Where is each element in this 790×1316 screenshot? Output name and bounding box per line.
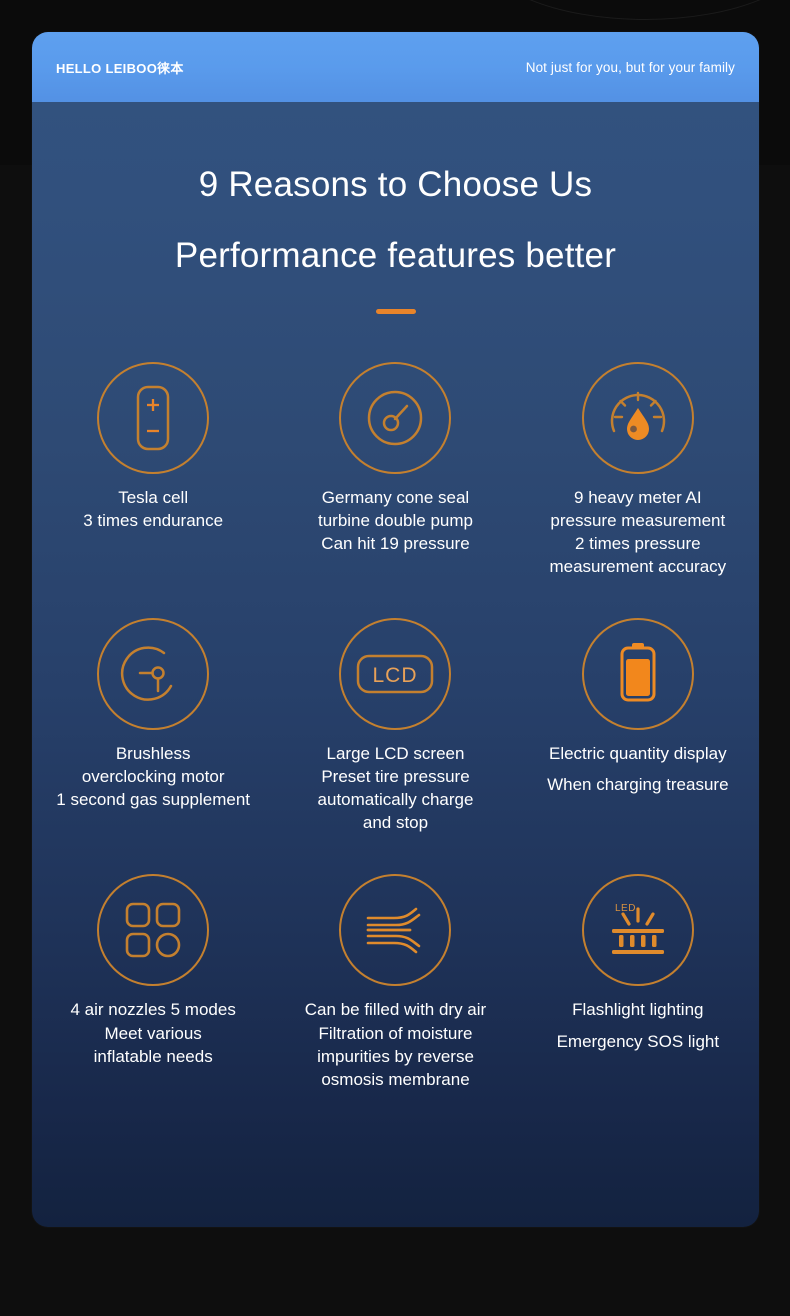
caption-line: 4 air nozzles 5 modes <box>70 998 235 1021</box>
page-subtitle: Performance features better <box>32 235 759 276</box>
caption-line: Large LCD screen <box>318 742 474 765</box>
feature-caption: Large LCD screen Preset tire pressure au… <box>318 742 474 834</box>
caption-line: 3 times endurance <box>83 509 223 532</box>
caption-line: 1 second gas supplement <box>56 788 250 811</box>
icon-circle <box>582 362 694 474</box>
feature-caption: Germany cone seal turbine double pump Ca… <box>318 486 473 555</box>
feature-caption: Can be filled with dry air Filtration of… <box>305 998 486 1090</box>
caption-line: Preset tire pressure <box>318 765 474 788</box>
caption-line: pressure measurement <box>549 509 726 532</box>
pressure-gauge-icon <box>360 383 430 453</box>
icon-circle <box>97 618 209 730</box>
page-root: HELLO LEIBOO徕本 Not just for you, but for… <box>0 0 790 1316</box>
caption-line: Electric quantity display <box>547 742 728 765</box>
caption-line: osmosis membrane <box>305 1068 486 1091</box>
caption-line: Can hit 19 pressure <box>318 532 473 555</box>
caption-line: overclocking motor <box>56 765 250 788</box>
feature-caption: Tesla cell 3 times endurance <box>83 486 223 532</box>
caption-line: Flashlight lighting <box>557 998 720 1021</box>
features-grid: Tesla cell 3 times endurance Germany con… <box>32 362 759 1091</box>
brand-label: HELLO LEIBOO徕本 <box>56 58 184 77</box>
caption-line: Germany cone seal <box>318 486 473 509</box>
feature-item: LED Flashlight lighting <box>517 874 759 1090</box>
brushless-motor-icon <box>118 639 188 709</box>
feature-item: LCD Large LCD screen Preset tire pressur… <box>274 618 516 834</box>
lcd-label: LCD <box>373 664 418 687</box>
caption-line: measurement accuracy <box>549 555 726 578</box>
icon-circle <box>97 362 209 474</box>
caption-line: turbine double pump <box>318 509 473 532</box>
feature-item: Can be filled with dry air Filtration of… <box>274 874 516 1090</box>
caption-line: and stop <box>318 811 474 834</box>
caption-line: 2 times pressure <box>549 532 726 555</box>
battery-cell-icon <box>122 381 184 455</box>
feature-item: Tesla cell 3 times endurance <box>32 362 274 578</box>
title-underline-divider <box>376 309 416 314</box>
title-block: 9 Reasons to Choose Us Performance featu… <box>32 164 759 314</box>
led-label: LED <box>615 903 636 914</box>
icon-circle <box>339 874 451 986</box>
caption-line: Filtration of moisture <box>305 1022 486 1045</box>
icon-circle: LCD <box>339 618 451 730</box>
caption-line: automatically charge <box>318 788 474 811</box>
feature-caption: Brushless overclocking motor 1 second ga… <box>56 742 250 811</box>
feature-caption: 9 heavy meter AI pressure measurement 2 … <box>549 486 726 578</box>
caption-spacer <box>547 765 728 773</box>
feature-item: 9 heavy meter AI pressure measurement 2 … <box>517 362 759 578</box>
feature-caption: 4 air nozzles 5 modes Meet various infla… <box>70 998 235 1067</box>
feature-caption: Flashlight lighting Emergency SOS light <box>557 998 720 1052</box>
caption-line: inflatable needs <box>70 1045 235 1068</box>
ai-pressure-meter-icon <box>601 381 675 455</box>
icon-circle <box>582 618 694 730</box>
feature-card: HELLO LEIBOO徕本 Not just for you, but for… <box>32 32 759 1227</box>
feature-item: Germany cone seal turbine double pump Ca… <box>274 362 516 578</box>
feature-item: 4 air nozzles 5 modes Meet various infla… <box>32 874 274 1090</box>
lcd-screen-icon: LCD <box>355 652 435 696</box>
caption-line: Emergency SOS light <box>557 1030 720 1053</box>
caption-line: Can be filled with dry air <box>305 998 486 1021</box>
caption-line: impurities by reverse <box>305 1045 486 1068</box>
caption-line: Brushless <box>56 742 250 765</box>
icon-circle <box>97 874 209 986</box>
led-flashlight-icon: LED <box>601 897 675 963</box>
page-title: 9 Reasons to Choose Us <box>32 164 759 205</box>
card-header: HELLO LEIBOO徕本 Not just for you, but for… <box>32 32 759 102</box>
caption-line: When charging treasure <box>547 773 728 796</box>
icon-circle <box>339 362 451 474</box>
feature-caption: Electric quantity display When charging … <box>547 742 728 796</box>
caption-line: 9 heavy meter AI <box>549 486 726 509</box>
feature-item: Electric quantity display When charging … <box>517 618 759 834</box>
background-arc-decoration <box>480 0 790 20</box>
four-nozzles-grid-icon <box>122 899 184 961</box>
battery-level-icon <box>613 639 663 709</box>
tagline-label: Not just for you, but for your family <box>526 60 735 75</box>
feature-item: Brushless overclocking motor 1 second ga… <box>32 618 274 834</box>
caption-spacer <box>557 1022 720 1030</box>
dry-air-flow-icon <box>364 904 426 956</box>
icon-circle: LED <box>582 874 694 986</box>
caption-line: Tesla cell <box>83 486 223 509</box>
caption-line: Meet various <box>70 1022 235 1045</box>
